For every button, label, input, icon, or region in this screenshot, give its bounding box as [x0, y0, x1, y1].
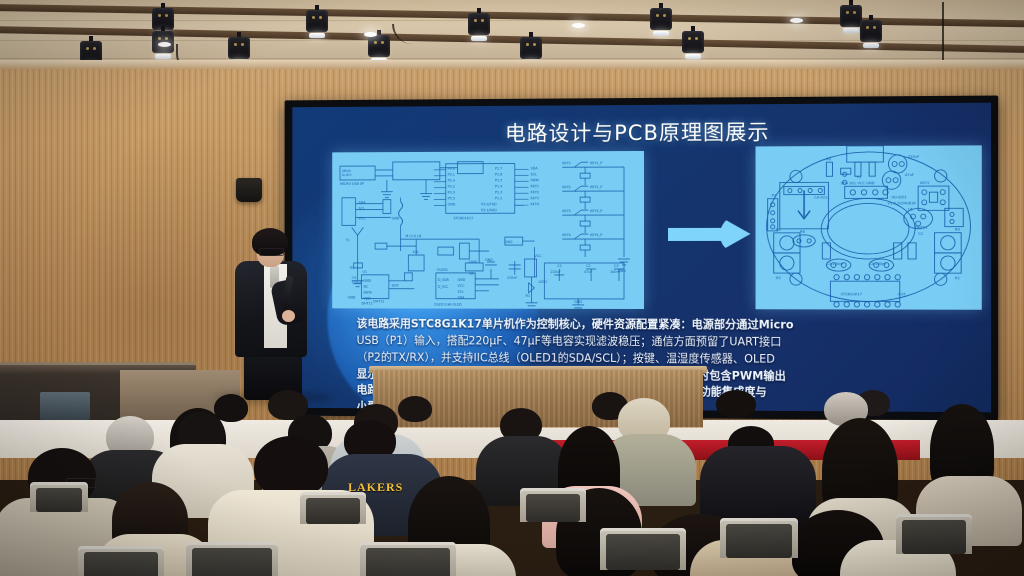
svg-text:100K: 100K	[468, 260, 477, 264]
svg-text:KEY3_P: KEY3_P	[590, 209, 602, 213]
svg-text:DHT11: DHT11	[915, 226, 928, 230]
svg-text:P3.1: P3.1	[448, 173, 455, 177]
svg-text:KEY2_P: KEY2_P	[590, 185, 602, 189]
svg-text:U1: U1	[362, 270, 367, 274]
audience-head	[716, 390, 756, 418]
svg-text:DHT11: DHT11	[373, 300, 384, 304]
seat	[30, 482, 88, 512]
svg-text:P5.5: P5.5	[448, 196, 455, 200]
svg-text:GND: GND	[392, 216, 400, 220]
svg-text:GND: GND	[574, 300, 582, 304]
svg-text:R1: R1	[526, 294, 530, 298]
svg-text:KEY4: KEY4	[531, 202, 540, 206]
svg-text:KEY2: KEY2	[562, 185, 571, 189]
slide-body-line: 该电路采用STC8G1K17单片机作为控制核心，硬件资源配置紧凑：电源部分通过M…	[357, 316, 958, 335]
svg-text:STC8G1K17: STC8G1K17	[841, 292, 862, 296]
svg-text:LED1: LED1	[538, 280, 547, 284]
seat	[600, 528, 686, 570]
svg-text:HLI-DZ3: HLI-DZ3	[892, 195, 907, 199]
svg-text:P1: P1	[857, 175, 862, 179]
svg-text:VCC: VCC	[458, 284, 466, 288]
stage-light	[682, 26, 704, 60]
svg-text:GND: GND	[448, 202, 456, 206]
svg-text:C4: C4	[352, 276, 356, 280]
svg-text:47uF: 47uF	[905, 173, 914, 177]
svg-text:GND: GND	[505, 240, 513, 244]
svg-text:VCC: VCC	[535, 254, 543, 258]
svg-text:P2: P2	[772, 194, 777, 198]
svg-text:P1.7: P1.7	[495, 167, 502, 171]
audience-head	[254, 436, 328, 498]
svg-text:SCL: SCL	[531, 172, 537, 176]
svg-text:47uF: 47uF	[584, 270, 592, 274]
svg-text:KEY2: KEY2	[531, 190, 540, 194]
svg-text:KEY4: KEY4	[562, 233, 571, 237]
svg-text:OLED 0.96 OLED: OLED 0.96 OLED	[434, 303, 462, 307]
svg-text:P5.4: P5.4	[448, 179, 455, 183]
stage-light	[306, 5, 328, 39]
svg-text:CA-0211: CA-0211	[814, 195, 830, 199]
svg-text:D-/D+: D-/D+	[342, 173, 352, 177]
svg-text:DATA: DATA	[363, 291, 372, 295]
svg-text:KEY3: KEY3	[562, 209, 571, 213]
audience: LAKERS	[0, 390, 1024, 576]
right-arrow-icon	[668, 217, 752, 251]
svg-text:OLED1: OLED1	[437, 268, 448, 272]
ceiling-downlight	[572, 23, 585, 28]
presenter-hand	[282, 310, 295, 322]
glasses-icon	[259, 248, 284, 256]
svg-text:P3.0/TXD: P3.0/TXD	[481, 202, 497, 206]
svg-text:0R: 0R	[469, 272, 474, 276]
ceiling-downlight	[364, 32, 377, 37]
svg-text:R5: R5	[955, 228, 960, 232]
svg-text:SCL: SCL	[458, 290, 464, 294]
svg-text:SDA: SDA	[359, 201, 367, 205]
svg-text:VCC: VCC	[359, 216, 367, 220]
svg-text:R6: R6	[800, 230, 806, 234]
svg-text:GND: GND	[485, 258, 493, 262]
wall-speaker	[236, 178, 262, 202]
stage-light	[468, 8, 490, 42]
svg-text:GND: GND	[348, 296, 356, 300]
svg-text:SDA: SDA	[458, 296, 466, 300]
svg-text:C2: C2	[918, 232, 923, 236]
svg-text:P3.0: P3.0	[448, 167, 455, 171]
svg-text:KEY3: KEY3	[531, 196, 540, 200]
svg-text:M CI-K LB: M CI-K LB	[405, 234, 421, 238]
svg-text:R3: R3	[776, 276, 781, 280]
seat	[78, 546, 164, 576]
svg-text:DHT11: DHT11	[361, 301, 372, 305]
svg-text:PWM: PWM	[531, 178, 539, 182]
svg-text:DHT: DHT	[392, 284, 400, 288]
svg-text:100nF: 100nF	[610, 270, 621, 274]
svg-text:U1: U1	[908, 207, 913, 211]
svg-text:104: 104	[412, 250, 418, 254]
svg-text:100nF: 100nF	[352, 281, 362, 285]
seat	[360, 542, 456, 576]
svg-text:R1: R1	[955, 276, 960, 280]
seat	[300, 492, 366, 524]
svg-text:GND: GND	[363, 279, 371, 283]
svg-text:KEY1: KEY1	[531, 184, 540, 188]
svg-text:STC8G1K17: STC8G1K17	[454, 216, 474, 220]
lecture-hall-photo: 电路设计与PCB原理图展示	[0, 0, 1024, 576]
ceiling-downlight	[790, 18, 803, 23]
svg-text:P1.4: P1.4	[495, 184, 502, 188]
svg-text:D_SCL: D_SCL	[438, 285, 449, 289]
slide-title: 电路设计与PCB原理图展示	[292, 115, 991, 149]
pcb-layout-figure: HLI-DZ3 V1.0 20240816 STC8G1K17 SDA SCL …	[756, 145, 982, 309]
svg-text:NC: NC	[363, 285, 368, 289]
ceiling-downlight	[158, 42, 171, 47]
svg-text:SCL: SCL	[359, 207, 365, 211]
svg-text:C1: C1	[557, 264, 561, 268]
slide-body-line: USB（P1）输入，搭配220μF、47μF等电容实现滤波稳压；通信方面预留了U…	[357, 333, 958, 352]
audience-head	[398, 396, 432, 422]
seat	[520, 488, 586, 522]
presenter	[226, 228, 322, 400]
svg-text:KEY4_P: KEY4_P	[590, 233, 602, 237]
svg-text:KEY1: KEY1	[920, 181, 929, 185]
svg-text:P1.6: P1.6	[495, 172, 502, 176]
seat	[896, 514, 972, 554]
svg-text:V1.0 20240816: V1.0 20240816	[887, 201, 916, 205]
svg-text:P3.3: P3.3	[448, 191, 455, 195]
svg-text:P3.1/RXD: P3.1/RXD	[481, 208, 497, 212]
svg-text:R4: R4	[776, 228, 782, 232]
svg-text:GND: GND	[458, 278, 466, 282]
svg-text:MICRO USB 5P: MICRO USB 5P	[340, 182, 364, 186]
svg-text:100nF: 100nF	[507, 276, 518, 280]
svg-text:P1.3: P1.3	[495, 190, 502, 194]
svg-text:220uF: 220uF	[908, 155, 919, 159]
svg-text:R2: R2	[826, 157, 831, 161]
svg-text:P3.2: P3.2	[448, 185, 455, 189]
svg-text:SDA SCL VCC GND: SDA SCL VCC GND	[841, 181, 875, 185]
svg-text:C4 100nF: C4 100nF	[869, 262, 886, 266]
svg-text:SDA: SDA	[531, 166, 539, 170]
svg-text:220uF: 220uF	[550, 270, 561, 274]
light-cable	[392, 24, 416, 44]
svg-text:OUT: OUT	[898, 292, 907, 296]
svg-text:KEY1_P: KEY1_P	[590, 161, 602, 165]
svg-text:KEY1: KEY1	[562, 161, 571, 165]
wall-trim	[0, 60, 1024, 69]
stage-light	[650, 3, 672, 37]
light-cable	[942, 2, 946, 62]
svg-text:C2: C2	[586, 264, 590, 268]
svg-text:VDD: VDD	[363, 297, 371, 301]
svg-text:R2: R2	[350, 266, 354, 270]
stage-light	[840, 0, 862, 34]
svg-text:D_SDA: D_SDA	[438, 278, 450, 282]
svg-text:P1.2: P1.2	[495, 196, 502, 200]
svg-text:P1.5: P1.5	[495, 178, 502, 182]
circuit-schematic-figure: VBUSD-/D+ MICRO USB 5P SDASCLVCC GND P3.…	[332, 151, 644, 309]
svg-text:Y1: Y1	[346, 238, 350, 242]
svg-text:C3 100nF: C3 100nF	[826, 262, 843, 266]
seat	[186, 542, 278, 576]
seat	[720, 518, 798, 558]
stage-light	[860, 15, 882, 49]
svg-text:C3: C3	[614, 264, 619, 268]
